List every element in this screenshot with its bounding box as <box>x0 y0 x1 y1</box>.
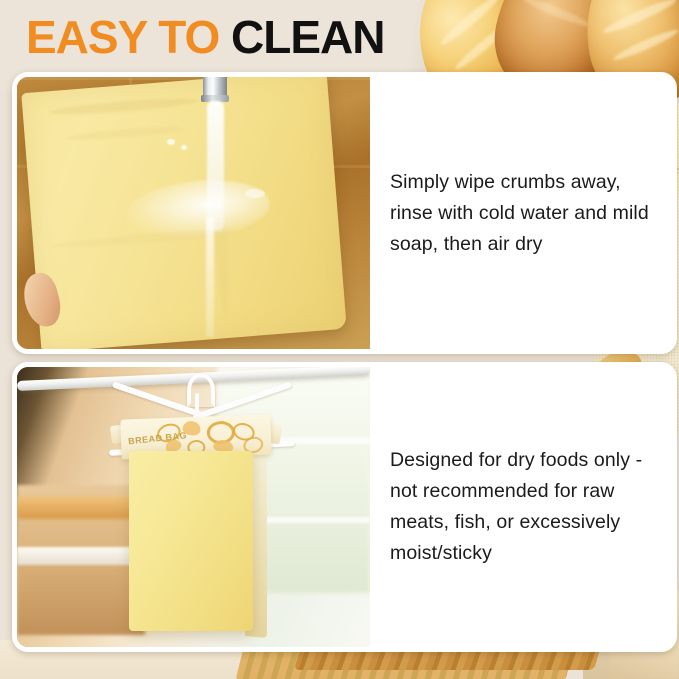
yellow-bread-bag <box>129 451 253 631</box>
photo-rinsing-bag <box>17 77 370 349</box>
text-pane-cleaning: Simply wipe crumbs away, rinse with cold… <box>370 77 672 349</box>
feature-card-usage[interactable]: BREAD BAG Designed for dry foods only - … <box>12 362 677 652</box>
usage-warning-text: Designed for dry foods only - not recomm… <box>390 445 650 569</box>
page-title: EASY TO CLEAN <box>26 14 385 60</box>
infographic-root: EASY TO CLEAN S <box>0 0 679 679</box>
cabinet-shelf <box>17 497 139 519</box>
text-pane-usage: Designed for dry foods only - not recomm… <box>370 367 672 647</box>
cleaning-instructions-text: Simply wipe crumbs away, rinse with cold… <box>390 167 650 260</box>
title-highlight: EASY TO <box>26 11 219 63</box>
title-rest: CLEAN <box>231 11 384 63</box>
hanger-hook <box>187 373 215 407</box>
photo-hanging-bag: BREAD BAG <box>17 367 370 647</box>
feature-card-cleaning[interactable]: Simply wipe crumbs away, rinse with cold… <box>12 72 677 354</box>
